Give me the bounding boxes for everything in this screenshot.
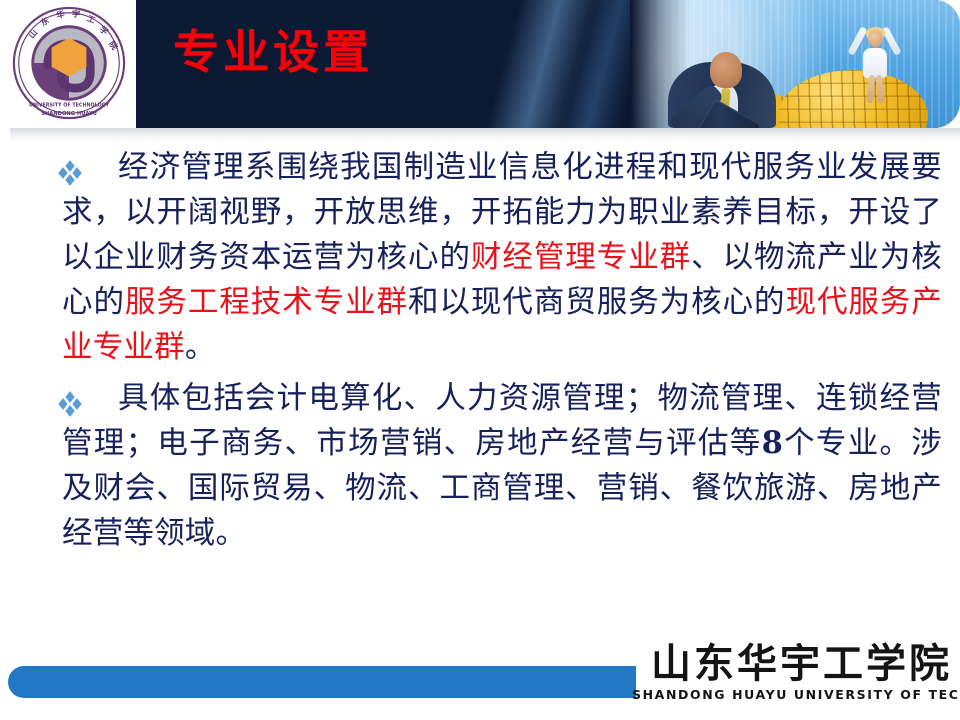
- svg-text:SHANDONG HUAYU: SHANDONG HUAYU: [41, 111, 97, 117]
- woman-leg-right: [876, 75, 884, 103]
- highlighted-term: 财经管理专业群: [471, 240, 691, 275]
- bullet-paragraph-1: 经济管理系围绕我国制造业信息化进程和现代服务业发展要求，以开阔视野，开放思维，开…: [0, 145, 960, 370]
- woman-dress: [863, 48, 887, 78]
- celebrating-woman: [846, 14, 902, 104]
- svg-text:宇: 宇: [72, 9, 81, 19]
- paragraph-1-text: 经济管理系围绕我国制造业信息化进程和现代服务业发展要求，以开阔视野，开放思维，开…: [62, 145, 942, 370]
- presentation-slide: 专业设置 SHANDONG HUAYU UNIVERSITY OF TECHNO…: [0, 0, 960, 720]
- banner-business-photo: [630, 0, 960, 128]
- diamond-cluster-bullet-icon: [56, 159, 84, 187]
- text-run: 和以现代商贸服务为核心的: [408, 285, 785, 320]
- footer-university-logo: 山东华宇工学院 SHANDONG HUAYU UNIVERSITY OF TEC…: [632, 642, 952, 704]
- highlighted-term: 服务工程技术专业群: [125, 285, 408, 320]
- university-logo-box: SHANDONG HUAYU UNIVERSITY OF TECHNOLOGY …: [0, 0, 136, 128]
- footer-name-en: SHANDONG HUAYU UNIVERSITY OF TECHNOLOGY: [632, 687, 952, 703]
- text-run: 。: [185, 330, 216, 365]
- footer-blue-bar: [8, 666, 636, 698]
- university-seal-icon: SHANDONG HUAYU UNIVERSITY OF TECHNOLOGY …: [11, 5, 127, 121]
- svg-text:UNIVERSITY OF TECHNOLOGY: UNIVERSITY OF TECHNOLOGY: [29, 103, 110, 109]
- woman-head: [868, 30, 883, 47]
- header-divider: [10, 128, 960, 142]
- businessman-head: [710, 52, 742, 88]
- paragraph-2-text: 具体包括会计电算化、人力资源管理；物流管理、连锁经营管理；电子商务、市场营销、房…: [62, 376, 942, 556]
- program-count: 8: [762, 425, 783, 461]
- footer-name-cn: 山东华宇工学院: [632, 642, 952, 686]
- slide-title: 专业设置: [173, 28, 373, 76]
- slide-header-banner: 专业设置: [135, 0, 960, 128]
- slide-content: 经济管理系围绕我国制造业信息化进程和现代服务业发展要求，以开阔视野，开放思维，开…: [0, 145, 960, 562]
- woman-leg-left: [867, 75, 875, 103]
- diamond-cluster-bullet-icon: [56, 390, 84, 418]
- bullet-paragraph-2: 具体包括会计电算化、人力资源管理；物流管理、连锁经营管理；电子商务、市场营销、房…: [0, 376, 960, 556]
